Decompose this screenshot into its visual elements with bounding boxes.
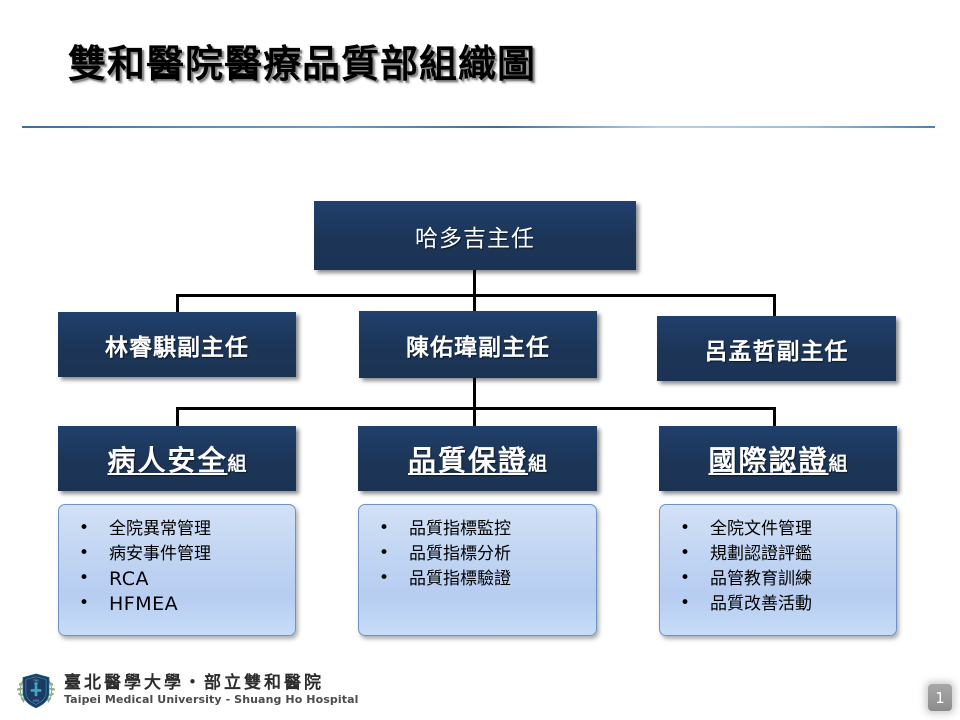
org-group-label: 病人安全組: [107, 439, 246, 479]
org-group-tasks-international-accreditation: 全院文件管理規劃認證評鑑品管教育訓練品質改善活動: [659, 504, 897, 636]
task-list-item: 品質指標監控: [371, 517, 586, 542]
org-group-label: 品質保證組: [408, 439, 547, 479]
connector-l1-stem: [473, 270, 476, 296]
task-list-item: 病安事件管理: [71, 542, 285, 567]
org-node-deputy-1[interactable]: 林睿騏副主任: [58, 312, 296, 377]
footer-org-name-cn: 臺北醫學大學・部立雙和醫院: [64, 675, 359, 693]
svg-text:TMU: TMU: [33, 679, 39, 683]
footer-text: 臺北醫學大學・部立雙和醫院 Taipei Medical University …: [64, 675, 359, 705]
task-list-item: 全院文件管理: [672, 517, 886, 542]
slide-canvas: 雙和醫院醫療品質部組織圖 哈多吉主任 林睿騏副主任 陳佑瑋副主任 呂孟哲副主任 …: [0, 0, 960, 720]
task-list: 品質指標監控品質指標分析品質指標驗證: [371, 517, 586, 592]
org-group-name: 病人安全: [107, 439, 227, 479]
svg-text:1960: 1960: [33, 698, 40, 702]
org-group-header-quality-assurance[interactable]: 品質保證組: [358, 426, 597, 491]
task-list-item: 品管教育訓練: [672, 567, 886, 592]
org-group-header-international-accreditation[interactable]: 國際認證組: [659, 426, 897, 491]
connector-group-drop-mid: [473, 407, 476, 427]
org-node-label: 哈多吉主任: [415, 219, 535, 253]
org-node-label: 林睿騏副主任: [105, 328, 249, 362]
org-group-header-patient-safety[interactable]: 病人安全組: [58, 426, 296, 491]
org-node-label: 陳佑瑋副主任: [406, 328, 550, 362]
task-list: 全院文件管理規劃認證評鑑品管教育訓練品質改善活動: [672, 517, 886, 617]
page-number-badge: 1: [928, 684, 952, 711]
page-title: 雙和醫院醫療品質部組織圖: [68, 33, 536, 88]
org-group-suffix: 組: [829, 449, 848, 476]
org-group-suffix: 組: [228, 449, 247, 476]
connector-l2-bus: [176, 294, 776, 297]
connector-l2-drop-right: [773, 294, 776, 318]
task-list-item: 規劃認證評鑑: [672, 542, 886, 567]
org-group-suffix: 組: [528, 449, 547, 476]
footer-logo: TMU 1960 臺北醫學大學・部立雙和醫院 Taipei Medical Un…: [14, 668, 359, 712]
org-group-tasks-patient-safety: 全院異常管理病安事件管理RCAHFMEA: [58, 504, 296, 636]
task-list-item: 全院異常管理: [71, 517, 285, 542]
org-node-deputy-2[interactable]: 陳佑瑋副主任: [359, 311, 597, 378]
task-list-item: HFMEA: [71, 592, 285, 617]
task-list-item: 品質改善活動: [672, 592, 886, 617]
org-group-tasks-quality-assurance: 品質指標監控品質指標分析品質指標驗證: [358, 504, 597, 636]
footer-org-name-en: Taipei Medical University - Shuang Ho Ho…: [64, 694, 359, 706]
org-node-label: 呂孟哲副主任: [705, 332, 849, 366]
task-list-item: 品質指標驗證: [371, 567, 586, 592]
title-divider: [22, 126, 935, 128]
org-group-name: 品質保證: [408, 439, 528, 479]
connector-group-drop-right: [773, 407, 776, 427]
task-list-item: 品質指標分析: [371, 542, 586, 567]
org-node-director[interactable]: 哈多吉主任: [314, 201, 636, 270]
hospital-crest-icon: TMU 1960: [14, 668, 58, 712]
task-list-item: RCA: [71, 567, 285, 592]
task-list: 全院異常管理病安事件管理RCAHFMEA: [71, 517, 285, 617]
connector-group-bus: [176, 407, 776, 410]
org-node-deputy-3[interactable]: 呂孟哲副主任: [657, 316, 896, 381]
org-group-name: 國際認證: [708, 439, 828, 479]
connector-l2-drop-left: [176, 294, 179, 314]
org-group-label: 國際認證組: [708, 439, 847, 479]
connector-l2-mid-stem: [473, 377, 476, 409]
connector-group-drop-left: [176, 407, 179, 427]
